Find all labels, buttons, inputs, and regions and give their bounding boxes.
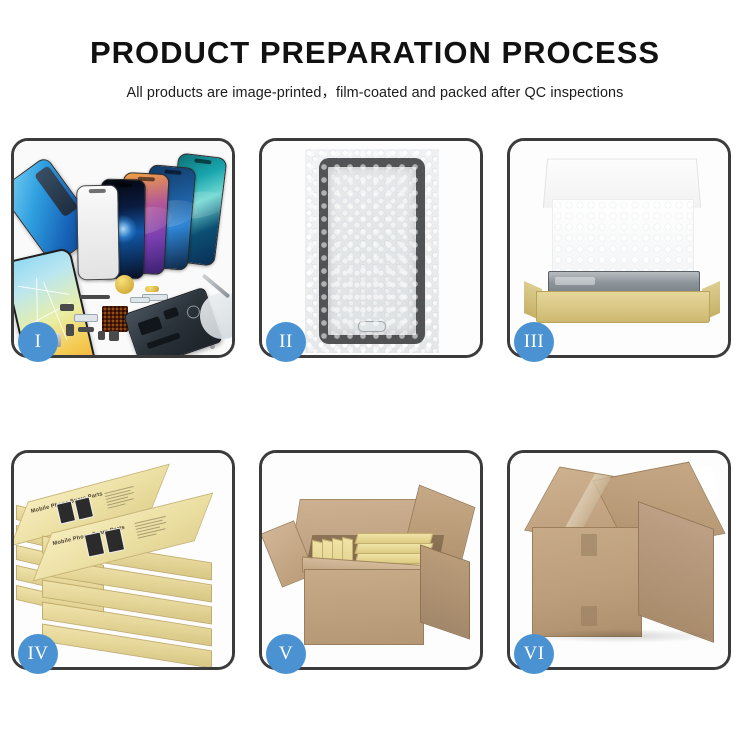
foam-padding-icon (552, 199, 694, 276)
process-step-panel-1[interactable]: I (11, 138, 235, 358)
part-small-connector-icon (60, 304, 74, 311)
step-badge-2: II (266, 322, 306, 362)
panel-6-image (510, 453, 728, 667)
step-badge-6: VI (514, 634, 554, 674)
header: PRODUCT PREPARATION PROCESS All products… (0, 0, 750, 102)
process-step-panel-6[interactable]: VI (507, 450, 731, 670)
panel-1-image (14, 141, 232, 355)
panel-2-image (262, 141, 480, 355)
process-step-panel-5[interactable]: V (259, 450, 483, 670)
part-flex-cable-2-icon (74, 314, 98, 322)
part-button-icon (66, 324, 74, 336)
process-step-panel-4[interactable]: Mobile Phone Spare Parts Mobile Phone Sp… (11, 450, 235, 670)
process-step-panel-3[interactable]: III (507, 138, 731, 358)
page-subtitle: All products are image-printed，film-coat… (0, 70, 750, 102)
part-speaker-coil-icon (115, 275, 134, 294)
part-gold-clip-icon (145, 286, 159, 292)
carton-front-icon (532, 527, 642, 637)
panel-5-image (262, 453, 480, 667)
part-camera-icon (98, 331, 105, 340)
step-badge-4: IV (18, 634, 58, 674)
carton-side-face-icon (420, 544, 470, 639)
phone-screen-1-icon (76, 185, 120, 281)
part-connector-icon (80, 295, 110, 299)
panel-4-image: Mobile Phone Spare Parts Mobile Phone Sp… (14, 453, 232, 667)
part-bracket-icon (78, 327, 94, 332)
page-title: PRODUCT PREPARATION PROCESS (0, 0, 750, 70)
carton-front-face-icon (304, 569, 424, 645)
part-ribbon-icon (130, 297, 150, 303)
panel-3-image (510, 141, 728, 355)
phone-glass-icon (319, 158, 425, 344)
part-module-icon (109, 331, 119, 341)
step-badge-5: V (266, 634, 306, 674)
step-badge-1: I (18, 322, 58, 362)
kraft-box-front-icon (536, 291, 710, 323)
process-step-panel-2[interactable]: II (259, 138, 483, 358)
bubble-wrap-icon (305, 149, 439, 353)
step-badge-3: III (514, 322, 554, 362)
process-step-grid: I II (11, 138, 739, 670)
